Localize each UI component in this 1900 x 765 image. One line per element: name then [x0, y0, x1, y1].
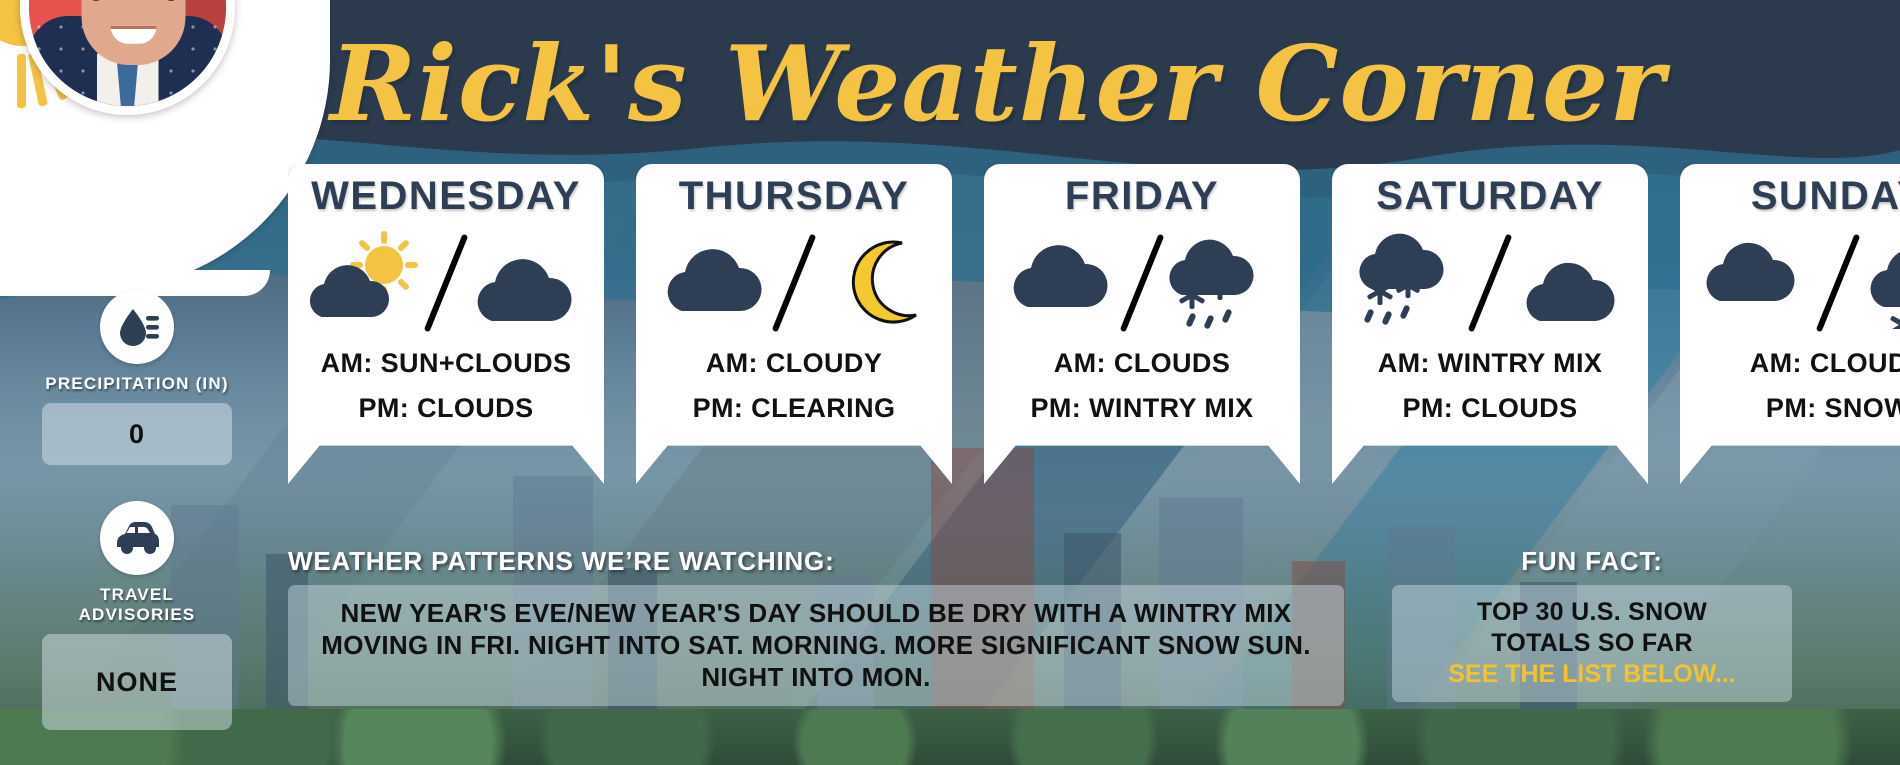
forecast-pm-text: PM: CLEARING — [636, 392, 952, 425]
fun-fact-panel: FUN FACT: TOP 30 U.S. SNOW TOTALS SO FAR… — [1392, 546, 1792, 702]
forecast-row: WEDNESDAY — [288, 164, 1900, 484]
forecast-icons — [1332, 223, 1648, 335]
fun-fact-link[interactable]: SEE THE LIST BELOW... — [1410, 659, 1774, 690]
weather-graphic: Rick's Weather Corner PRECIPITATION (IN)… — [0, 0, 1900, 765]
cloud-snow-icon — [1854, 229, 1900, 329]
travel-advisories-block: TRAVEL ADVISORIES NONE — [42, 501, 232, 730]
forecast-day-label: FRIDAY — [984, 174, 1300, 219]
forecast-icons — [984, 223, 1300, 335]
cloud-snow-rain-icon — [1158, 229, 1288, 329]
precipitation-value: 0 — [42, 403, 232, 465]
cloud-snow-rain-icon — [1348, 229, 1478, 329]
forecast-day-label: SUNDAY — [1680, 174, 1900, 219]
car-icon — [100, 501, 174, 575]
weather-patterns-body: NEW YEAR'S EVE/NEW YEAR'S DAY SHOULD BE … — [288, 585, 1344, 706]
weather-patterns-panel: WEATHER PATTERNS WE’RE WATCHING: NEW YEA… — [288, 546, 1344, 706]
forecast-icons — [636, 223, 952, 335]
forecast-am-text: AM: WINTRY MIX — [1332, 347, 1648, 380]
forecast-card-wednesday[interactable]: WEDNESDAY — [288, 164, 604, 484]
sidebar: PRECIPITATION (IN) 0 TRAVEL ADVISORIES N… — [42, 290, 232, 730]
cloud-icon — [1696, 229, 1826, 329]
fun-fact-line1: TOP 30 U.S. SNOW — [1410, 597, 1774, 628]
sun-behind-cloud-icon — [304, 229, 434, 329]
forecast-day-label: WEDNESDAY — [288, 174, 604, 219]
forecast-card-thursday[interactable]: THURSDAY AM: CLOUDY PM: CLEARING 43 — [636, 164, 952, 484]
raindrop-icon — [100, 290, 174, 364]
forecast-icons — [288, 223, 604, 335]
forecast-pm-text: PM: WINTRY MIX — [984, 392, 1300, 425]
precipitation-label: PRECIPITATION (IN) — [42, 374, 232, 394]
forecast-am-text: AM: CLOUDS — [984, 347, 1300, 380]
cloud-icon — [1506, 229, 1636, 329]
travel-advisories-value: NONE — [42, 634, 232, 730]
travel-advisories-label: TRAVEL ADVISORIES — [42, 585, 232, 625]
cloud-icon — [1000, 229, 1130, 329]
forecast-day-label: THURSDAY — [636, 174, 952, 219]
forecast-am-text: AM: CLOUDY — [636, 347, 952, 380]
avatar — [20, 0, 235, 115]
page-title: Rick's Weather Corner — [330, 22, 1665, 145]
forecast-am-text: AM: SUN+CLOUDS — [288, 347, 604, 380]
forecast-card-friday[interactable]: FRIDAY — [984, 164, 1300, 484]
forecast-am-text: AM: CLOUDS — [1680, 347, 1900, 380]
forecast-pm-text: PM: CLOUDS — [288, 392, 604, 425]
cloud-icon — [462, 229, 592, 329]
tree-line — [0, 709, 1900, 765]
fun-fact-body: TOP 30 U.S. SNOW TOTALS SO FAR SEE THE L… — [1392, 585, 1792, 702]
fun-fact-heading: FUN FACT: — [1392, 546, 1792, 577]
forecast-pm-text: PM: SNOW — [1680, 392, 1900, 425]
forecast-pm-text: PM: CLOUDS — [1332, 392, 1648, 425]
crescent-moon-icon — [810, 229, 940, 329]
forecast-icons — [1680, 223, 1900, 335]
cloud-icon — [652, 229, 782, 329]
forecast-day-label: SATURDAY — [1332, 174, 1648, 219]
forecast-card-sunday[interactable]: SUNDAY — [1680, 164, 1900, 484]
weather-patterns-heading: WEATHER PATTERNS WE’RE WATCHING: — [288, 546, 1344, 577]
fun-fact-line2: TOTALS SO FAR — [1410, 628, 1774, 659]
forecast-card-saturday[interactable]: SATURDAY — [1332, 164, 1648, 484]
precipitation-block: PRECIPITATION (IN) 0 — [42, 290, 232, 465]
